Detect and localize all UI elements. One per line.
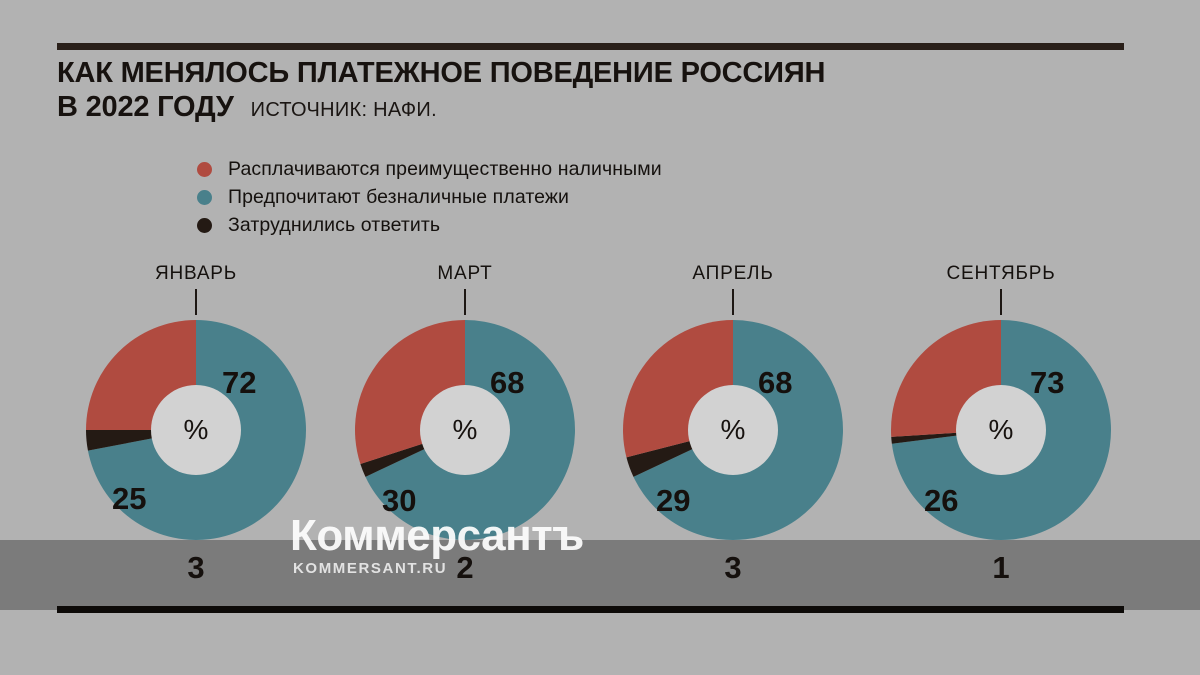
- chart-title-september: СЕНТЯБРЬ: [866, 262, 1136, 286]
- value-undecided-april: 3: [598, 551, 868, 585]
- title-row-2: В 2022 ГОДУ ИСТОЧНИК: НАФИ.: [57, 92, 1137, 122]
- header: КАК МЕНЯЛОСЬ ПЛАТЕЖНОЕ ПОВЕДЕНИЕ РОССИЯН…: [57, 58, 1137, 122]
- legend-dot-icon-cashless: [197, 190, 212, 205]
- donut-chart-september: СЕНТЯБРЬ % 73 26 1: [866, 262, 1136, 585]
- legend: Расплачиваются преимущественно наличными…: [197, 155, 662, 239]
- legend-item-undecided: Затруднились ответить: [197, 211, 662, 239]
- chart-title-april: АПРЕЛЬ: [598, 262, 868, 286]
- legend-item-cash: Расплачиваются преимущественно наличными: [197, 155, 662, 183]
- value-undecided-september: 1: [866, 551, 1136, 585]
- chart-tick-icon: [1000, 289, 1002, 315]
- value-cash-april: 29: [656, 485, 690, 516]
- donut-january: % 72 25: [81, 315, 311, 545]
- footer-rule: [57, 606, 1124, 613]
- legend-label-undecided: Затруднились ответить: [228, 214, 440, 237]
- donut-svg-april: [618, 315, 848, 545]
- header-rule: [57, 43, 1124, 50]
- source-label: ИСТОЧНИК: НАФИ.: [251, 99, 437, 122]
- legend-dot-icon-undecided: [197, 218, 212, 233]
- donut-chart-april: АПРЕЛЬ % 68 29 3: [598, 262, 868, 585]
- page-title-line2: В 2022 ГОДУ: [57, 92, 234, 122]
- donut-september: % 73 26: [886, 315, 1116, 545]
- infographic-canvas: КАК МЕНЯЛОСЬ ПЛАТЕЖНОЕ ПОВЕДЕНИЕ РОССИЯН…: [0, 0, 1200, 675]
- donut-march: % 68 30: [350, 315, 580, 545]
- value-cash-january: 25: [112, 483, 146, 514]
- chart-tick-icon: [464, 289, 466, 315]
- donut-april: % 68 29: [618, 315, 848, 545]
- chart-title-march: МАРТ: [330, 262, 600, 286]
- legend-label-cash: Расплачиваются преимущественно наличными: [228, 158, 662, 181]
- chart-tick-icon: [195, 289, 197, 315]
- value-undecided-january: 3: [61, 551, 331, 585]
- legend-dot-icon-cash: [197, 162, 212, 177]
- chart-title-january: ЯНВАРЬ: [61, 262, 331, 286]
- value-cashless-march: 68: [490, 367, 524, 398]
- value-cashless-january: 72: [222, 367, 256, 398]
- value-cashless-april: 68: [758, 367, 792, 398]
- donut-chart-january: ЯНВАРЬ % 72 25 3: [61, 262, 331, 585]
- value-cash-march: 30: [382, 485, 416, 516]
- donut-svg-september: [886, 315, 1116, 545]
- value-cashless-september: 73: [1030, 367, 1064, 398]
- page-title-line1: КАК МЕНЯЛОСЬ ПЛАТЕЖНОЕ ПОВЕДЕНИЕ РОССИЯН: [57, 58, 1137, 88]
- value-undecided-march: 2: [330, 551, 600, 585]
- chart-tick-icon: [732, 289, 734, 315]
- legend-label-cashless: Предпочитают безналичные платежи: [228, 186, 569, 209]
- legend-item-cashless: Предпочитают безналичные платежи: [197, 183, 662, 211]
- donut-chart-march: МАРТ % 68 30 2: [330, 262, 600, 585]
- value-cash-september: 26: [924, 485, 958, 516]
